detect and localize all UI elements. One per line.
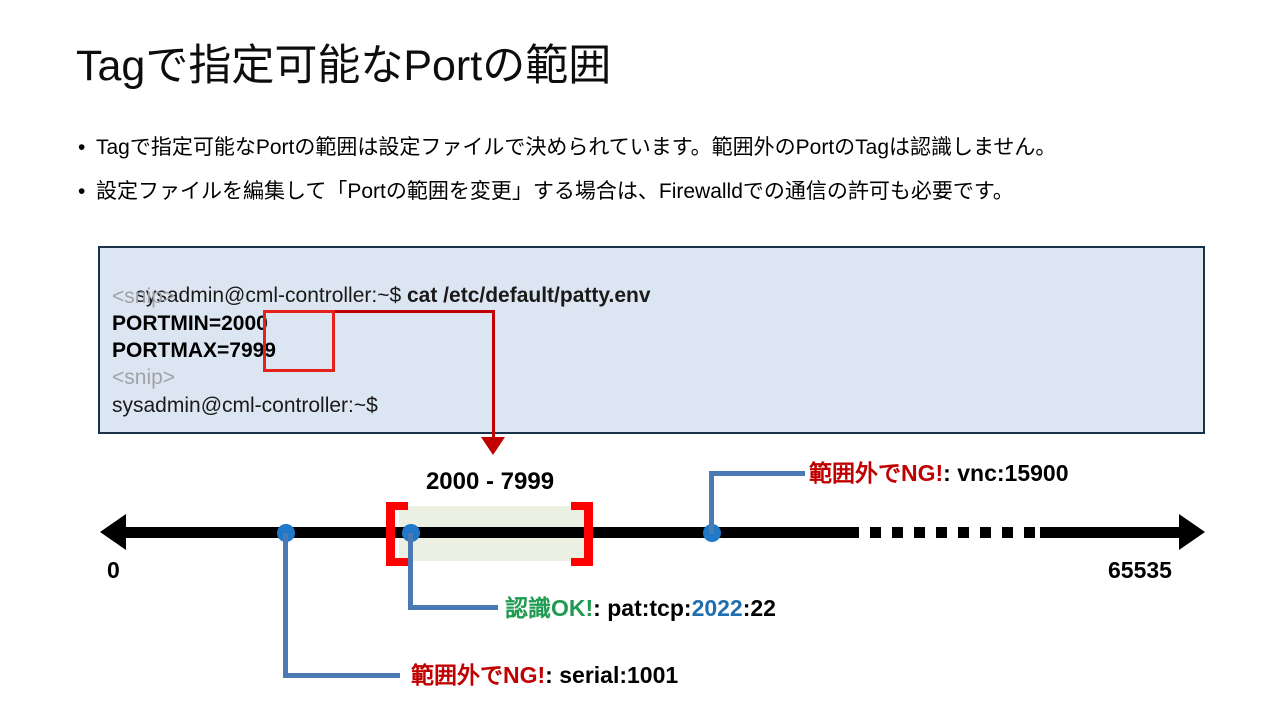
axis-max-label: 65535: [1108, 557, 1172, 583]
leader-line-vnc-vertical: [709, 474, 714, 534]
callout-pat-status: 認識OK!: [505, 595, 593, 621]
bullet-text-1: Tagで指定可能なPortの範囲は設定ファイルで決められています。範囲外のPor…: [96, 133, 1056, 163]
axis-arrow-left-icon: [100, 514, 126, 550]
callout-vnc-status: 範囲外でNG!: [809, 460, 943, 486]
callout-vnc-body: vnc:15900: [957, 460, 1068, 486]
callout-serial: 範囲外でNG!: serial:1001: [411, 661, 678, 689]
callout-serial-body: serial:1001: [559, 662, 678, 688]
callout-pat-separator: :: [593, 595, 607, 621]
range-bracket-right-icon: [571, 502, 593, 566]
axis-line-dotted: [848, 527, 1043, 538]
bullet-item-2: • 設定ファイルを編集して「Portの範囲を変更」する場合は、Firewalld…: [78, 177, 1218, 207]
callout-serial-status: 範囲外でNG!: [411, 662, 545, 688]
callout-pat-port: 2022: [692, 595, 743, 621]
callout-connector-vertical: [492, 310, 495, 440]
terminal-line-portmax: PORTMAX=7999: [112, 338, 276, 364]
terminal-line-snip-top: <snip>: [112, 284, 175, 310]
leader-line-serial-vertical: [283, 533, 288, 677]
range-label: 2000 - 7999: [405, 468, 575, 496]
bullet-marker-icon: •: [78, 133, 96, 163]
bullet-list: • Tagで指定可能なPortの範囲は設定ファイルで決められています。範囲外のP…: [78, 133, 1218, 221]
page-title: Tagで指定可能なPortの範囲: [76, 38, 611, 94]
axis-arrow-right-icon: [1179, 514, 1205, 550]
terminal-line-last-prompt: sysadmin@cml-controller:~$: [112, 393, 378, 419]
axis-line-solid-left: [121, 527, 850, 538]
axis-min-label: 0: [107, 557, 120, 583]
bullet-text-2: 設定ファイルを編集して「Portの範囲を変更」する場合は、Firewalldでの…: [96, 177, 1014, 207]
leader-line-pat-horizontal: [408, 605, 498, 610]
terminal-line-portmin: PORTMIN=2000: [112, 311, 268, 337]
axis-line-solid-right: [1040, 527, 1190, 538]
callout-vnc: 範囲外でNG!: vnc:15900: [809, 459, 1068, 487]
terminal-command: cat /etc/default/patty.env: [407, 284, 651, 307]
leader-line-serial-horizontal: [283, 673, 400, 678]
callout-pat-body-prefix: pat:tcp:: [607, 595, 691, 621]
callout-connector-horizontal: [335, 310, 495, 313]
bullet-item-1: • Tagで指定可能なPortの範囲は設定ファイルで決められています。範囲外のP…: [78, 133, 1218, 163]
callout-pat: 認識OK!: pat:tcp:2022:22: [505, 594, 776, 622]
callout-vnc-separator: :: [943, 460, 957, 486]
port-values-highlight-box: [263, 310, 335, 372]
terminal-prompt: sysadmin@cml-controller:~$: [135, 284, 407, 307]
bullet-marker-icon: •: [78, 177, 96, 207]
callout-pat-body-suffix: :22: [743, 595, 776, 621]
terminal-line-snip-bottom: <snip>: [112, 365, 175, 391]
leader-line-pat-vertical: [408, 533, 413, 610]
leader-line-vnc-horizontal: [709, 471, 805, 476]
callout-arrowhead-icon: [481, 437, 505, 455]
callout-serial-separator: :: [545, 662, 559, 688]
